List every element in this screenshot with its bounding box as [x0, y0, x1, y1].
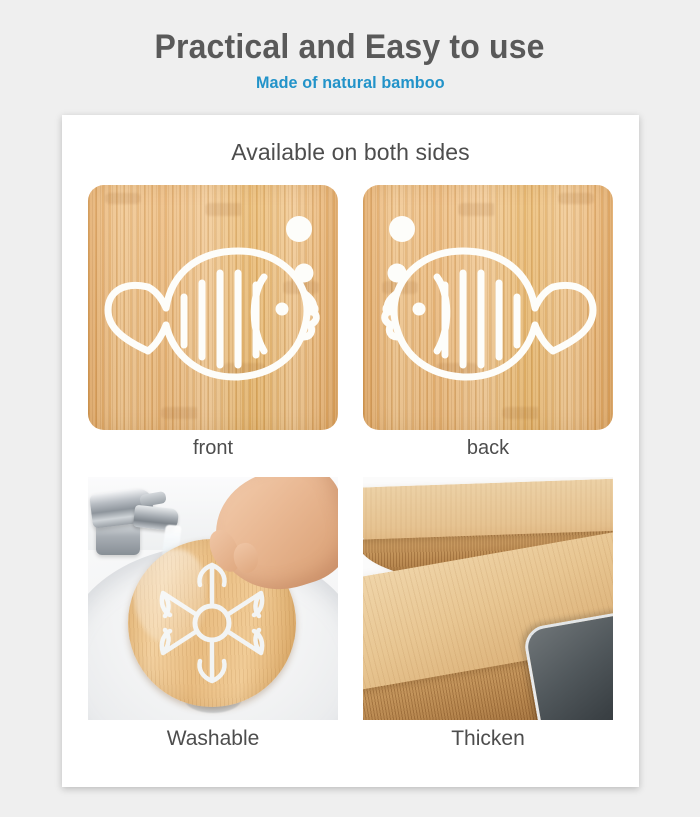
- trivet-row: front: [62, 185, 639, 465]
- trivet-cell-front: front: [88, 185, 338, 465]
- header: Practical and Easy to use Made of natura…: [0, 0, 700, 115]
- photo-label-thicken: Thicken: [363, 727, 613, 751]
- section-heading: Available on both sides: [62, 139, 639, 166]
- content-card: Available on both sides: [62, 115, 639, 787]
- page-title: Practical and Easy to use: [155, 30, 545, 66]
- trivet-label-back: back: [363, 437, 613, 460]
- water-sheen: [134, 549, 206, 645]
- photo-row: Washable Thicken: [62, 477, 639, 767]
- photo-cell-washable: Washable: [88, 477, 338, 767]
- trivet-cell-back: back: [363, 185, 613, 465]
- washing-trivet-photo: [88, 477, 338, 720]
- thick-bamboo-board-photo: [363, 477, 613, 720]
- photo-label-washable: Washable: [88, 727, 338, 751]
- fish-cutout-back-icon: [363, 185, 613, 430]
- infographic-page: Practical and Easy to use Made of natura…: [0, 0, 700, 817]
- page-subtitle: Made of natural bamboo: [256, 73, 445, 93]
- fish-cutout-front-icon: [88, 185, 338, 430]
- photo-cell-thicken: Thicken: [363, 477, 613, 767]
- bamboo-trivet-back: [363, 185, 613, 430]
- trivet-label-front: front: [88, 437, 338, 460]
- bamboo-trivet-front: [88, 185, 338, 430]
